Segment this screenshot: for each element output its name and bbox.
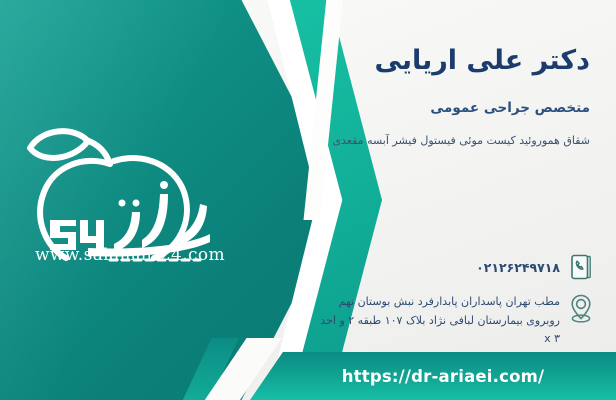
doctor-specialty: متخصص جراحی عمومی — [190, 100, 590, 116]
footer-url-link[interactable]: https://dr-ariaei.com/ — [250, 352, 616, 400]
address-line-2: روبروی بیمارستان لبافی نژاد بلاک ۱۰۷ طبق… — [198, 312, 560, 331]
phone-number: ۰۲۱۲۶۲۴۹۷۱۸ — [198, 250, 566, 278]
business-card: www.salamati24.com دکتر علی اریایی متخصص… — [0, 0, 616, 400]
contact-phone-row[interactable]: ۰۲۱۲۶۲۴۹۷۱۸ — [198, 250, 598, 284]
map-pin-icon — [566, 292, 596, 326]
phone-book-icon — [566, 250, 596, 284]
leaf-icon — [30, 131, 88, 158]
doctor-description: شقاق هموروئید کیست موئی فیستول فیشر آبسه… — [300, 131, 590, 150]
doctor-name: دکتر علی اریایی — [190, 44, 590, 78]
address-line-1: مطب تهران پاسداران پابدارفرد نبش بوستان … — [198, 293, 560, 312]
